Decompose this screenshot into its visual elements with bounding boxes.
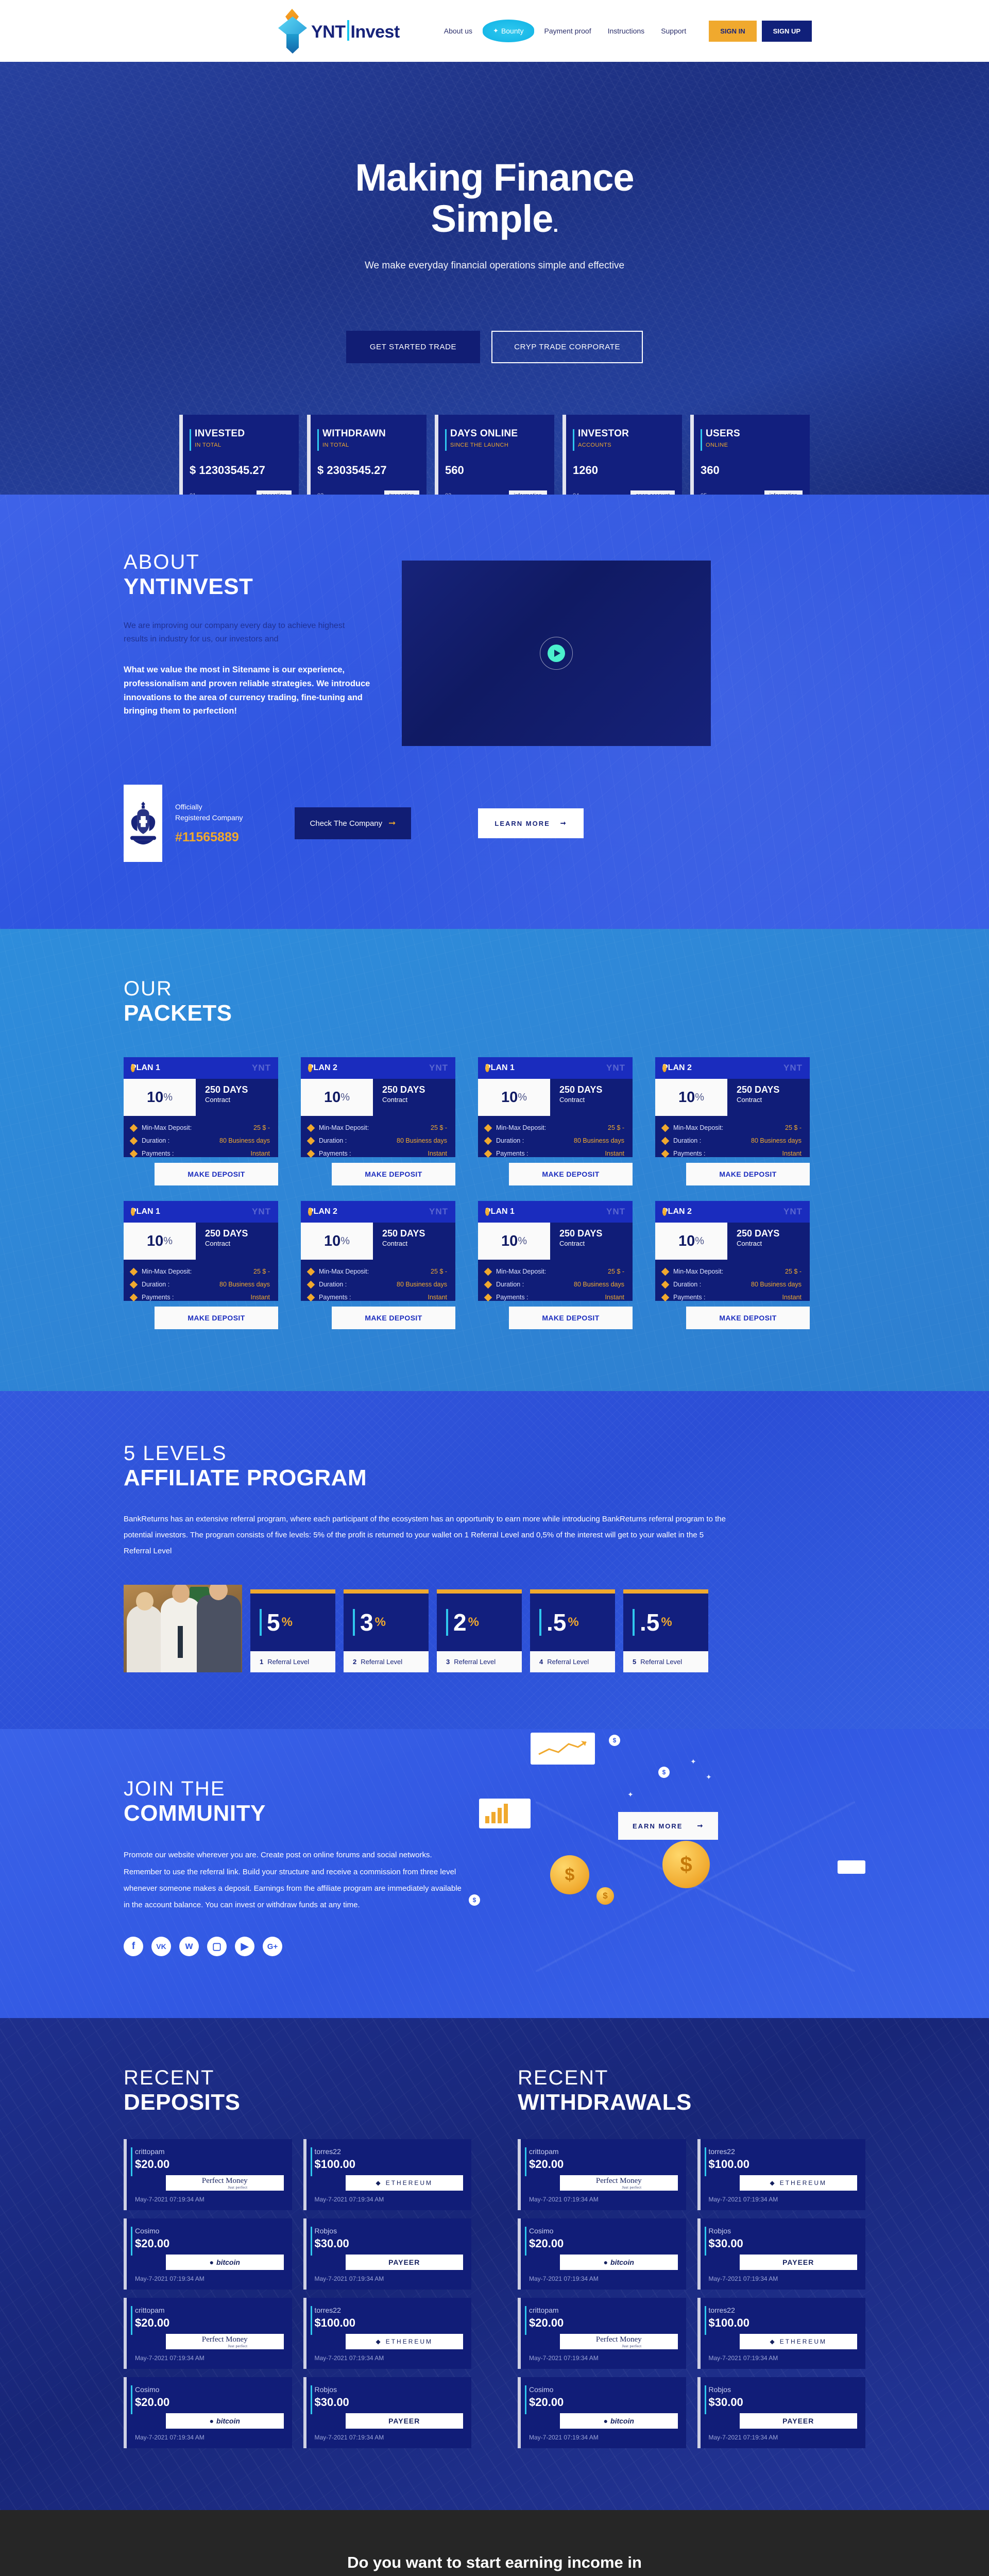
plan-payments-label: Payments : bbox=[142, 1294, 174, 1301]
cta-line1: Do you want to start earning income in bbox=[347, 2553, 642, 2571]
level-accent-bar bbox=[633, 1609, 635, 1636]
ethereum-logo: ◆ETHEREUM bbox=[376, 2179, 433, 2187]
tx-amount: $20.00 bbox=[529, 2237, 678, 2250]
plan-min-max-value: 25 $ - bbox=[431, 1124, 447, 1131]
ethereum-logo: ◆ETHEREUM bbox=[376, 2338, 433, 2345]
stat-index: 01 bbox=[190, 493, 196, 495]
transaction-card: crittopam$20.00Perfect MoneyJust perfect… bbox=[518, 2139, 686, 2210]
plan-payments-label: Payments : bbox=[673, 1294, 706, 1301]
plan-header: $PLAN 2YNT bbox=[655, 1057, 810, 1079]
tx-date: May-7-2021 07:19:34 AM bbox=[135, 2434, 284, 2441]
plan-min-max-value: 25 $ - bbox=[608, 1268, 624, 1275]
plan-percent-value: 10 bbox=[324, 1089, 340, 1106]
plan-row-min-max: Min-Max Deposit:25 $ - bbox=[131, 1268, 270, 1275]
plan-contract: Contract bbox=[737, 1240, 810, 1247]
tx-amount: $30.00 bbox=[709, 2237, 858, 2250]
tx-accent-bar bbox=[525, 2306, 526, 2335]
stat-subtitle: SINCE THE LAUNCH bbox=[450, 442, 554, 448]
plan-card: $PLAN 1YNT10%250 DAYSContractMin-Max Dep… bbox=[124, 1057, 278, 1185]
plan-payments-label: Payments : bbox=[496, 1294, 528, 1301]
payeer-logo: PAYEER bbox=[388, 2258, 420, 2266]
plan-row-payments: Payments :Instant bbox=[308, 1150, 447, 1157]
tx-accent-bar bbox=[311, 2227, 312, 2256]
trend-card-icon bbox=[531, 1733, 595, 1765]
plan-percent-symbol: % bbox=[695, 1235, 704, 1247]
plan-min-max-value: 25 $ - bbox=[608, 1124, 624, 1131]
plan-contract: Contract bbox=[559, 1096, 633, 1104]
registered-line2: Registered Company bbox=[175, 814, 243, 822]
plan-duration-value: 80 Business days bbox=[397, 1281, 447, 1288]
plan-percent-value: 10 bbox=[501, 1233, 518, 1250]
plan-percent: 10% bbox=[655, 1223, 727, 1260]
payeer-logo: PAYEER bbox=[782, 2417, 814, 2425]
stat-value: $ 2303545.27 bbox=[317, 464, 427, 477]
site-header: YNTInvest About us ✦ Bounty Payment proo… bbox=[0, 0, 989, 62]
make-deposit-button[interactable]: MAKE DEPOSIT bbox=[155, 1307, 278, 1329]
transaction-card: Robjos$30.00PAYEERMay-7-2021 07:19:34 AM bbox=[303, 2218, 472, 2290]
tx-accent-bar bbox=[705, 2385, 706, 2414]
level-percent-symbol: % bbox=[661, 1615, 672, 1630]
plan-name: PLAN 2 bbox=[308, 1063, 337, 1073]
learn-more-label: LEARN MORE bbox=[494, 820, 550, 827]
plan-watermark: YNT bbox=[606, 1063, 625, 1073]
plan-watermark: YNT bbox=[783, 1063, 803, 1073]
plan-percent-value: 10 bbox=[678, 1089, 695, 1106]
check-the-company-button[interactable]: Check The Company ➞ bbox=[295, 807, 412, 839]
tx-username: crittopam bbox=[135, 2306, 284, 2314]
plan-row-min-max: Min-Max Deposit:25 $ - bbox=[485, 1124, 624, 1131]
plan-duration-value: 80 Business days bbox=[574, 1137, 624, 1144]
diamond-icon bbox=[307, 1267, 315, 1276]
tx-amount: $30.00 bbox=[315, 2396, 464, 2409]
plan-header: $PLAN 1YNT bbox=[124, 1201, 278, 1223]
coin-icon: $ bbox=[662, 1064, 667, 1072]
about-paragraph-1: We are improving our company every day t… bbox=[124, 619, 371, 646]
level-accent-bar bbox=[539, 1609, 541, 1636]
transaction-card: crittopam$20.00Perfect MoneyJust perfect… bbox=[124, 2298, 292, 2369]
stat-title: USERS bbox=[706, 428, 810, 439]
community-section: JOIN THE COMMUNITY Promote our website w… bbox=[0, 1729, 989, 2018]
transaction-card: Cosimo$20.00●bitcoinMay-7-2021 07:19:34 … bbox=[124, 2377, 292, 2448]
plan-duration-label: Duration : bbox=[496, 1281, 524, 1288]
tx-payment-method: ●bitcoin bbox=[166, 2413, 284, 2429]
tx-payment-method: ◆ETHEREUM bbox=[740, 2334, 858, 2349]
plan-row-duration: Duration :80 Business days bbox=[131, 1281, 270, 1288]
tx-amount: $20.00 bbox=[135, 2158, 284, 2171]
nav-item-payment-proof[interactable]: Payment proof bbox=[536, 27, 600, 35]
learn-more-button[interactable]: LEARN MORE ➞ bbox=[478, 808, 583, 838]
hero-section: Making Finance Simple. We make everyday … bbox=[0, 62, 989, 495]
plan-contract: Contract bbox=[382, 1096, 455, 1104]
plan-percent-value: 10 bbox=[147, 1233, 163, 1250]
stat-card: INVESTED IN TOTAL $ 12303545.27 01transa… bbox=[179, 415, 299, 495]
plan-name: PLAN 2 bbox=[662, 1207, 692, 1216]
tx-date: May-7-2021 07:19:34 AM bbox=[315, 2354, 464, 2362]
diamond-icon bbox=[661, 1267, 670, 1276]
sign-up-button[interactable]: SIGN UP bbox=[762, 21, 812, 42]
instagram-icon[interactable]: ▢ bbox=[207, 1937, 227, 1956]
stat-foot-label[interactable]: transation bbox=[384, 490, 419, 495]
arrow-right-icon: ➞ bbox=[560, 819, 567, 827]
tx-username: torres22 bbox=[315, 2306, 464, 2314]
make-deposit-button[interactable]: MAKE DEPOSIT bbox=[509, 1163, 633, 1185]
tx-date: May-7-2021 07:19:34 AM bbox=[315, 2196, 464, 2203]
tx-date: May-7-2021 07:19:34 AM bbox=[529, 2354, 678, 2362]
plan-row-payments: Payments :Instant bbox=[662, 1150, 802, 1157]
diamond-icon bbox=[307, 1280, 315, 1289]
sign-in-button[interactable]: SIGN IN bbox=[709, 21, 756, 42]
diamond-icon bbox=[130, 1280, 138, 1289]
tx-payment-method: ●bitcoin bbox=[560, 2255, 678, 2270]
plan-duration-label: Duration : bbox=[142, 1281, 169, 1288]
stat-foot-label[interactable]: transation bbox=[257, 490, 292, 495]
plan-watermark: YNT bbox=[252, 1063, 271, 1073]
withdrawals-grid: crittopam$20.00Perfect MoneyJust perfect… bbox=[518, 2139, 865, 2448]
diamond-icon bbox=[307, 1124, 315, 1132]
plan-duration-value: 80 Business days bbox=[219, 1281, 270, 1288]
plan-watermark: YNT bbox=[783, 1207, 803, 1217]
plan-header: $PLAN 2YNT bbox=[301, 1201, 455, 1223]
level-top-accent bbox=[623, 1589, 708, 1594]
transaction-card: Cosimo$20.00●bitcoinMay-7-2021 07:19:34 … bbox=[518, 2377, 686, 2448]
nav-item-instructions[interactable]: Instructions bbox=[600, 27, 653, 35]
plan-percent-symbol: % bbox=[518, 1092, 527, 1104]
tx-amount: $100.00 bbox=[315, 2316, 464, 2330]
referral-level-card: 5%1Referral Level bbox=[250, 1589, 335, 1672]
tx-accent-bar bbox=[311, 2306, 312, 2335]
stat-accent-bar bbox=[701, 429, 702, 451]
make-deposit-button[interactable]: MAKE DEPOSIT bbox=[155, 1163, 278, 1185]
packets-section: OUR PACKETS $PLAN 1YNT10%250 DAYSContrac… bbox=[0, 929, 989, 1391]
tx-payment-method: ◆ETHEREUM bbox=[740, 2175, 858, 2191]
earn-more-label: EARN MORE bbox=[633, 1822, 683, 1830]
stat-subtitle: ACCOUNTS bbox=[578, 442, 682, 448]
sparkle-icon: ✦ bbox=[690, 1757, 696, 1766]
hero-title-line2: Simple bbox=[431, 197, 553, 240]
coin-icon: $ bbox=[662, 1208, 667, 1216]
plan-payments-value: Instant bbox=[250, 1294, 270, 1301]
level-percent-symbol: % bbox=[468, 1615, 479, 1630]
plan-row-payments: Payments :Instant bbox=[662, 1294, 802, 1301]
plan-min-max-label: Min-Max Deposit: bbox=[319, 1124, 369, 1131]
plan-name: PLAN 1 bbox=[485, 1207, 515, 1216]
registered-label: Officially Registered Company bbox=[175, 802, 243, 823]
plan-name: PLAN 1 bbox=[485, 1063, 515, 1073]
tx-username: Cosimo bbox=[529, 2227, 678, 2235]
googleplus-icon[interactable]: G+ bbox=[263, 1937, 282, 1956]
plan-name: PLAN 1 bbox=[131, 1207, 160, 1216]
tx-payment-method: Perfect MoneyJust perfect bbox=[560, 2175, 678, 2191]
plan-percent-symbol: % bbox=[695, 1092, 704, 1104]
twitter-icon[interactable]: w bbox=[179, 1937, 199, 1956]
plan-days: 250 DAYS bbox=[559, 1084, 633, 1095]
plan-percent-value: 10 bbox=[147, 1089, 163, 1106]
facebook-icon[interactable]: f bbox=[124, 1937, 143, 1956]
youtube-icon[interactable]: ▶ bbox=[235, 1937, 254, 1956]
referral-level-card: .5%5Referral Level bbox=[623, 1589, 708, 1672]
plan-payments-value: Instant bbox=[428, 1294, 447, 1301]
tx-date: May-7-2021 07:19:34 AM bbox=[709, 2354, 858, 2362]
cryp-trade-corporate-button[interactable]: CRYP TRADE CORPORATE bbox=[491, 331, 643, 363]
plan-header: $PLAN 2YNT bbox=[301, 1057, 455, 1079]
tx-username: torres22 bbox=[709, 2306, 858, 2314]
nav-item-about-us[interactable]: About us bbox=[436, 27, 481, 35]
plan-row-payments: Payments :Instant bbox=[131, 1150, 270, 1157]
transaction-card: torres22$100.00◆ETHEREUMMay-7-2021 07:19… bbox=[303, 2139, 472, 2210]
stat-foot-label[interactable]: open account bbox=[630, 490, 675, 495]
plan-name: PLAN 2 bbox=[308, 1207, 337, 1216]
stat-title: DAYS ONLINE bbox=[450, 428, 554, 439]
level-value: 5 bbox=[267, 1611, 280, 1634]
plan-header: $PLAN 1YNT bbox=[124, 1057, 278, 1079]
dollar-badge-icon: $ bbox=[609, 1735, 620, 1746]
plan-payments-value: Instant bbox=[428, 1150, 447, 1157]
plan-row-payments: Payments :Instant bbox=[308, 1294, 447, 1301]
affiliate-section: 5 LEVELS AFFILIATE PROGRAM BankReturns h… bbox=[0, 1391, 989, 1729]
level-index: 3 bbox=[446, 1658, 450, 1666]
tx-amount: $30.00 bbox=[709, 2396, 858, 2409]
plan-percent: 10% bbox=[655, 1079, 727, 1116]
tx-amount: $100.00 bbox=[709, 2316, 858, 2330]
plan-row-duration: Duration :80 Business days bbox=[308, 1281, 447, 1288]
stat-accent-bar bbox=[445, 429, 447, 451]
plan-row-duration: Duration :80 Business days bbox=[308, 1137, 447, 1144]
level-value: 3 bbox=[360, 1611, 373, 1634]
stat-index: 02 bbox=[317, 493, 323, 495]
nav-item-bounty-label: Bounty bbox=[501, 27, 524, 35]
transaction-card: torres22$100.00◆ETHEREUMMay-7-2021 07:19… bbox=[697, 2298, 866, 2369]
tx-payment-method: PAYEER bbox=[346, 2255, 464, 2270]
tx-accent-bar bbox=[131, 2227, 132, 2256]
make-deposit-button[interactable]: MAKE DEPOSIT bbox=[332, 1163, 455, 1185]
bitcoin-logo: ●bitcoin bbox=[604, 2258, 634, 2266]
level-accent-bar bbox=[260, 1609, 262, 1636]
plan-row-min-max: Min-Max Deposit:25 $ - bbox=[131, 1124, 270, 1131]
stat-foot-label[interactable]: information bbox=[764, 490, 803, 495]
tx-date: May-7-2021 07:19:34 AM bbox=[709, 2196, 858, 2203]
about-eyebrow: ABOUT bbox=[124, 551, 371, 573]
plan-days: 250 DAYS bbox=[737, 1228, 810, 1239]
registration-number: #11565889 bbox=[175, 830, 243, 845]
transaction-card: crittopam$20.00Perfect MoneyJust perfect… bbox=[124, 2139, 292, 2210]
plan-row-duration: Duration :80 Business days bbox=[662, 1137, 802, 1144]
plan-header: $PLAN 2YNT bbox=[655, 1201, 810, 1223]
tx-username: torres22 bbox=[709, 2147, 858, 2156]
tx-payment-method: ●bitcoin bbox=[560, 2413, 678, 2429]
plan-contract: Contract bbox=[205, 1240, 278, 1247]
bitcoin-icon: ● bbox=[210, 2258, 214, 2266]
logo-diamond-icon bbox=[278, 7, 314, 55]
check-the-company-label: Check The Company bbox=[310, 819, 383, 828]
stat-title: WITHDRAWN bbox=[322, 428, 427, 439]
stat-value: $ 12303545.27 bbox=[190, 464, 299, 477]
plan-duration-value: 80 Business days bbox=[751, 1137, 802, 1144]
plan-contract: Contract bbox=[205, 1096, 278, 1104]
tx-username: Robjos bbox=[709, 2385, 858, 2394]
coin-icon-small: $ bbox=[596, 1887, 614, 1905]
tx-date: May-7-2021 07:19:34 AM bbox=[135, 2354, 284, 2362]
make-deposit-button[interactable]: MAKE DEPOSIT bbox=[686, 1307, 810, 1329]
make-deposit-button[interactable]: MAKE DEPOSIT bbox=[686, 1163, 810, 1185]
tx-payment-method: PAYEER bbox=[346, 2413, 464, 2429]
packets-title: PACKETS bbox=[124, 1001, 865, 1026]
level-index: 4 bbox=[539, 1658, 543, 1666]
earn-more-button[interactable]: EARN MORE ➞ bbox=[618, 1812, 718, 1840]
transaction-card: crittopam$20.00Perfect MoneyJust perfect… bbox=[518, 2298, 686, 2369]
diamond-icon bbox=[661, 1280, 670, 1289]
tx-accent-bar bbox=[131, 2306, 132, 2335]
tx-username: Robjos bbox=[315, 2227, 464, 2235]
tx-date: May-7-2021 07:19:34 AM bbox=[709, 2275, 858, 2282]
diamond-icon bbox=[661, 1137, 670, 1145]
plan-grid: $PLAN 1YNT10%250 DAYSContractMin-Max Dep… bbox=[124, 1057, 865, 1329]
plan-duration-value: 80 Business days bbox=[219, 1137, 270, 1144]
tx-payment-method: Perfect MoneyJust perfect bbox=[166, 2175, 284, 2191]
stat-card: DAYS ONLINE SINCE THE LAUNCH 560 03infor… bbox=[435, 415, 554, 495]
plan-payments-label: Payments : bbox=[319, 1294, 351, 1301]
bitcoin-icon: ● bbox=[604, 2417, 608, 2425]
tx-date: May-7-2021 07:19:34 AM bbox=[135, 2275, 284, 2282]
plan-min-max-value: 25 $ - bbox=[785, 1268, 802, 1275]
plan-name: PLAN 1 bbox=[131, 1063, 160, 1073]
transaction-card: torres22$100.00◆ETHEREUMMay-7-2021 07:19… bbox=[303, 2298, 472, 2369]
perfect-money-logo: Perfect MoneyJust perfect bbox=[202, 2335, 248, 2348]
plan-percent: 10% bbox=[124, 1223, 196, 1260]
make-deposit-button[interactable]: MAKE DEPOSIT bbox=[509, 1307, 633, 1329]
plan-card: $PLAN 1YNT10%250 DAYSContractMin-Max Dep… bbox=[124, 1201, 278, 1329]
diamond-icon bbox=[484, 1267, 492, 1276]
transaction-card: Robjos$30.00PAYEERMay-7-2021 07:19:34 AM bbox=[303, 2377, 472, 2448]
plan-row-min-max: Min-Max Deposit:25 $ - bbox=[308, 1268, 447, 1275]
plan-contract: Contract bbox=[382, 1240, 455, 1247]
plan-row-min-max: Min-Max Deposit:25 $ - bbox=[662, 1124, 802, 1131]
plan-min-max-label: Min-Max Deposit: bbox=[496, 1124, 546, 1131]
plan-card: $PLAN 2YNT10%250 DAYSContractMin-Max Dep… bbox=[301, 1201, 455, 1329]
level-label: Referral Level bbox=[454, 1658, 496, 1666]
stat-subtitle: IN TOTAL bbox=[322, 442, 427, 448]
tx-amount: $20.00 bbox=[135, 2396, 284, 2409]
tx-accent-bar bbox=[705, 2227, 706, 2256]
level-top-accent bbox=[250, 1589, 335, 1594]
plan-row-min-max: Min-Max Deposit:25 $ - bbox=[308, 1124, 447, 1131]
logo[interactable]: YNTInvest bbox=[278, 7, 400, 55]
affiliate-eyebrow: 5 LEVELS bbox=[124, 1443, 865, 1464]
plan-percent: 10% bbox=[478, 1223, 550, 1260]
community-eyebrow: JOIN THE bbox=[124, 1778, 464, 1800]
hero-title-dot: . bbox=[553, 214, 558, 236]
diamond-icon bbox=[484, 1293, 492, 1301]
ethereum-icon: ◆ bbox=[770, 2338, 776, 2345]
plan-watermark: YNT bbox=[429, 1063, 448, 1073]
diamond-icon bbox=[130, 1149, 138, 1158]
main-nav: About us ✦ Bounty Payment proof Instruct… bbox=[436, 20, 694, 42]
stat-card: WITHDRAWN IN TOTAL $ 2303545.27 02transa… bbox=[307, 415, 427, 495]
plan-duration-label: Duration : bbox=[673, 1281, 701, 1288]
company-crest-icon bbox=[124, 785, 162, 862]
perfect-money-logo: Perfect MoneyJust perfect bbox=[596, 2177, 642, 2190]
diamond-icon bbox=[484, 1149, 492, 1158]
plan-percent: 10% bbox=[301, 1079, 373, 1116]
vk-icon[interactable]: VK bbox=[151, 1937, 171, 1956]
nav-item-support[interactable]: Support bbox=[653, 27, 694, 35]
tx-date: May-7-2021 07:19:34 AM bbox=[529, 2275, 678, 2282]
plan-percent-symbol: % bbox=[340, 1092, 350, 1104]
tx-amount: $30.00 bbox=[315, 2237, 464, 2250]
deposits-grid: crittopam$20.00Perfect MoneyJust perfect… bbox=[124, 2139, 471, 2448]
receipt-card-icon bbox=[838, 1860, 865, 1874]
plan-payments-value: Instant bbox=[605, 1150, 624, 1157]
stat-card: USERS ONLINE 360 05information bbox=[690, 415, 810, 495]
tx-date: May-7-2021 07:19:34 AM bbox=[135, 2196, 284, 2203]
level-label: Referral Level bbox=[547, 1658, 589, 1666]
coin-icon: $ bbox=[308, 1064, 312, 1072]
play-button[interactable] bbox=[540, 637, 573, 670]
bitcoin-logo: ●bitcoin bbox=[210, 2417, 240, 2425]
recent-section: RECENT DEPOSITS crittopam$20.00Perfect M… bbox=[0, 2018, 989, 2510]
play-icon bbox=[548, 645, 565, 662]
nav-item-bounty[interactable]: ✦ Bounty bbox=[483, 20, 534, 42]
plan-min-max-value: 25 $ - bbox=[253, 1124, 270, 1131]
stat-index: 04 bbox=[573, 493, 579, 495]
transaction-card: Robjos$30.00PAYEERMay-7-2021 07:19:34 AM bbox=[697, 2218, 866, 2290]
tx-accent-bar bbox=[525, 2385, 526, 2414]
tx-payment-method: PAYEER bbox=[740, 2255, 858, 2270]
hero-subtitle: We make everyday financial operations si… bbox=[365, 260, 624, 272]
tx-payment-method: ●bitcoin bbox=[166, 2255, 284, 2270]
level-index: 1 bbox=[260, 1658, 263, 1666]
plan-duration-value: 80 Business days bbox=[397, 1137, 447, 1144]
tx-date: May-7-2021 07:19:34 AM bbox=[529, 2434, 678, 2441]
diamond-icon bbox=[307, 1293, 315, 1301]
diamond-icon bbox=[661, 1293, 670, 1301]
tx-username: Robjos bbox=[709, 2227, 858, 2235]
plan-card: $PLAN 1YNT10%250 DAYSContractMin-Max Dep… bbox=[478, 1057, 633, 1185]
ethereum-icon: ◆ bbox=[770, 2179, 776, 2187]
payeer-logo: PAYEER bbox=[388, 2417, 420, 2425]
plan-payments-label: Payments : bbox=[496, 1150, 528, 1157]
stat-accent-bar bbox=[573, 429, 574, 451]
plan-duration-label: Duration : bbox=[319, 1281, 347, 1288]
stat-foot-label[interactable]: information bbox=[509, 490, 547, 495]
ethereum-icon: ◆ bbox=[376, 2338, 382, 2345]
plan-min-max-value: 25 $ - bbox=[431, 1268, 447, 1275]
level-value: .5 bbox=[640, 1611, 659, 1634]
tx-accent-bar bbox=[705, 2147, 706, 2176]
tx-username: crittopam bbox=[529, 2147, 678, 2156]
plan-row-min-max: Min-Max Deposit:25 $ - bbox=[485, 1268, 624, 1275]
tx-username: crittopam bbox=[529, 2306, 678, 2314]
plan-days: 250 DAYS bbox=[382, 1228, 455, 1239]
stat-index: 05 bbox=[701, 493, 707, 495]
plan-duration-label: Duration : bbox=[319, 1137, 347, 1144]
level-top-accent bbox=[530, 1589, 615, 1594]
tx-accent-bar bbox=[705, 2306, 706, 2335]
bar-chart-card-icon bbox=[479, 1799, 531, 1828]
plan-days: 250 DAYS bbox=[205, 1228, 278, 1239]
coin-icon: $ bbox=[485, 1064, 489, 1072]
stat-value: 1260 bbox=[573, 464, 682, 477]
plan-min-max-label: Min-Max Deposit: bbox=[142, 1124, 192, 1131]
diamond-icon bbox=[130, 1137, 138, 1145]
get-started-trade-button[interactable]: GET STARTED TRADE bbox=[346, 331, 480, 363]
make-deposit-button[interactable]: MAKE DEPOSIT bbox=[332, 1307, 455, 1329]
recent-withdrawals-column: RECENT WITHDRAWALS crittopam$20.00Perfec… bbox=[518, 2067, 865, 2448]
transaction-card: torres22$100.00◆ETHEREUMMay-7-2021 07:19… bbox=[697, 2139, 866, 2210]
tx-accent-bar bbox=[525, 2147, 526, 2176]
about-video-player[interactable] bbox=[402, 561, 711, 746]
level-percent-symbol: % bbox=[568, 1615, 578, 1630]
level-value: 2 bbox=[453, 1611, 467, 1634]
